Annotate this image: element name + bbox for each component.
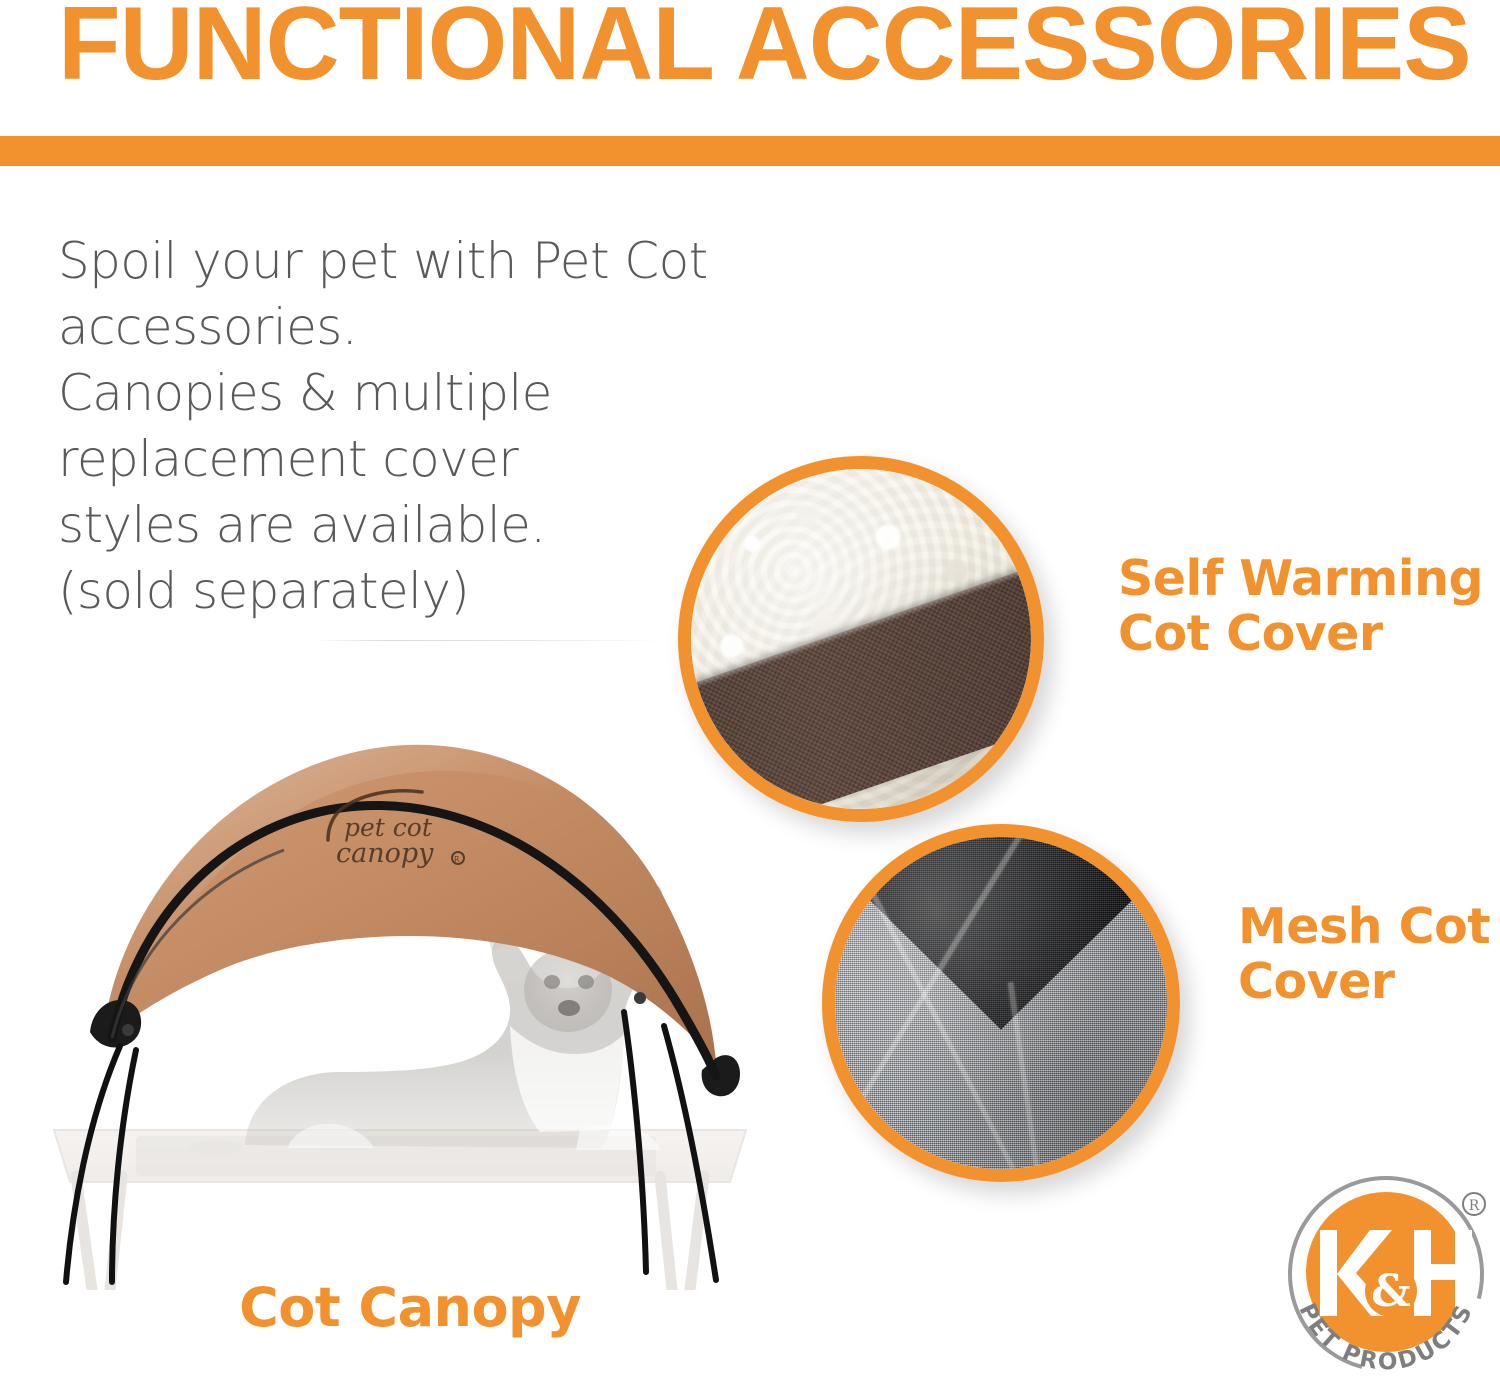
decorative-hairline (312, 640, 664, 641)
self-warming-label-line-1: Self Warming (1118, 552, 1498, 607)
intro-copy-line-4: (sold separately) (58, 558, 758, 624)
mesh-cover-label: Mesh Cot Cover (1238, 900, 1500, 1010)
mesh-cover-photo (822, 824, 1180, 1182)
intro-copy-line-1: Spoil your pet with Pet Cot accessories. (58, 228, 758, 360)
svg-text:R: R (1469, 1198, 1480, 1214)
mesh-label-line-2: Cover (1238, 955, 1500, 1010)
svg-text:&: & (1371, 1266, 1411, 1317)
mesh-label-line-1: Mesh Cot (1238, 900, 1500, 955)
intro-copy-line-2: Canopies & multiple replacement cover (58, 360, 758, 492)
canopy-left-clip (122, 1024, 134, 1036)
intro-copy: Spoil your pet with Pet Cot accessories.… (58, 228, 758, 624)
page-title: FUNCTIONAL ACCESSORIES (58, 0, 1476, 102)
orange-divider-bar (0, 136, 1500, 166)
svg-text:R: R (454, 855, 460, 864)
cot-canopy-product-photo: pet cot canopy R (40, 690, 780, 1290)
self-warming-label-line-2: Cot Cover (1118, 607, 1498, 662)
kh-pet-products-logo: & R PET PRODUCTS (1278, 1156, 1494, 1387)
self-warming-cover-label: Self Warming Cot Cover (1118, 552, 1498, 662)
intro-copy-line-3: styles are available. (58, 492, 758, 558)
cot-canopy-label: Cot Canopy (0, 1276, 820, 1339)
mesh-shading (835, 837, 1167, 1169)
svg-text:canopy: canopy (336, 838, 434, 869)
canopy-right-clip (634, 992, 646, 1004)
registered-mark-icon: R (1463, 1193, 1485, 1215)
mesh-photo-inner (835, 837, 1167, 1169)
marketing-banner: FUNCTIONAL ACCESSORIES Spoil your pet wi… (0, 0, 1500, 1387)
